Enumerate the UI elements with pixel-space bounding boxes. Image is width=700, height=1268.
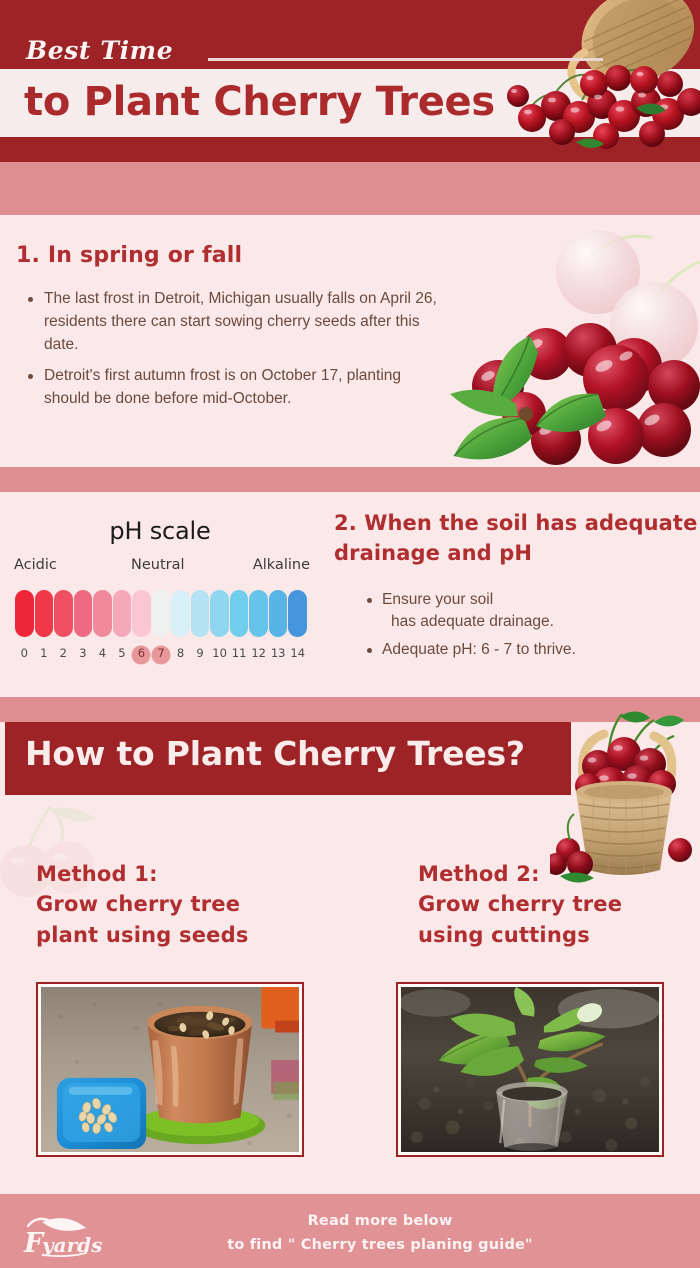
ph-pill-10 [210,590,229,637]
list-item: Detroit's first autumn frost is on Octob… [26,365,446,411]
method-2-photo [396,982,664,1157]
method-2-line2: using cuttings [418,923,590,947]
ph-label-acidic: Acidic [14,557,57,573]
cherries-with-leaves-icon [438,218,700,470]
svg-text:yards: yards [41,1233,102,1257]
pink-band-middle [0,467,700,492]
footer-line-2: to find " Cherry trees planing guide" [227,1237,533,1253]
section1-heading: 1. In spring or fall [16,243,242,268]
ph-pill-1 [35,590,54,637]
ph-number-3: 3 [74,644,93,666]
ph-number-4: 4 [93,644,112,666]
ph-pill-7 [152,590,171,637]
ph-pill-3 [74,590,93,637]
ph-number-6: 6 [132,644,151,666]
ph-number-10: 10 [210,644,229,666]
ph-label-neutral: Neutral [131,557,185,573]
footer: F yards Read more below to find " Cherry… [0,1194,700,1268]
method-1-heading: Method 1: Grow cherry tree plant using s… [36,859,249,950]
pink-band-top [0,162,700,215]
list-item: The last frost in Detroit, Michigan usua… [26,288,446,357]
method-1-title: Method 1: [36,862,158,886]
method-1-line2: plant using seeds [36,923,249,947]
ph-pill-11 [230,590,249,637]
ph-scale-number-row: 01234567891011121314 [15,644,307,666]
footer-line-1: Read more below [308,1213,453,1229]
ph-number-7: 7 [152,644,171,666]
ph-label-alkaline: Alkaline [253,557,310,573]
list-item: Ensure your soil has adequate drainage. [365,589,695,634]
pot-with-cherry-seeds-image [41,987,299,1152]
section2-heading: 2. When the soil has adequate drainage a… [334,509,700,569]
ph-pill-5 [113,590,132,637]
ph-scale-labels: Acidic Neutral Alkaline [14,557,310,577]
how-to-plant-banner: How to Plant Cherry Trees? [5,722,571,795]
ph-pill-14 [288,590,307,637]
list-item-line1: Ensure your soil [382,591,493,608]
ph-number-13: 13 [269,644,288,666]
ph-pill-6 [132,590,151,637]
header-divider-rule [208,58,603,61]
ph-number-5: 5 [113,644,132,666]
ph-pill-9 [191,590,210,637]
header: Best Time to Plant Cherry Trees [0,0,700,162]
banner-title: How to Plant Cherry Trees? [25,734,525,773]
method-2-heading: Method 2: Grow cherry tree using cutting… [418,859,622,950]
ph-number-12: 12 [249,644,268,666]
page-title: to Plant Cherry Trees [24,79,495,125]
ph-number-2: 2 [54,644,73,666]
ph-pill-8 [171,590,190,637]
footer-message: Read more below to find " Cherry trees p… [170,1210,590,1258]
ph-pill-0 [15,590,34,637]
method-2-line1: Grow cherry tree [418,892,622,916]
ph-number-8: 8 [171,644,190,666]
header-eyebrow: Best Time [26,36,173,65]
section1-bullet-list: The last frost in Detroit, Michigan usua… [26,288,446,419]
ph-pill-13 [269,590,288,637]
cutting-in-cup-image [401,987,659,1152]
fyards-logo-icon: F yards [18,1210,110,1258]
ph-scale-title: pH scale [0,517,320,545]
list-item: Adequate pH: 6 - 7 to thrive. [365,639,695,661]
section2-bullet-list: Ensure your soil has adequate drainage. … [365,589,695,666]
ph-pill-4 [93,590,112,637]
ph-pill-2 [54,590,73,637]
method-1-photo [36,982,304,1157]
ph-number-1: 1 [35,644,54,666]
infographic-page: Best Time to Plant Cherry Trees [0,0,700,1268]
ph-number-14: 14 [288,644,307,666]
method-1-line1: Grow cherry tree [36,892,240,916]
ph-pill-12 [249,590,268,637]
ph-number-11: 11 [230,644,249,666]
ph-number-9: 9 [191,644,210,666]
list-item-line2: has adequate drainage. [382,611,695,633]
cherries-basket-header-icon [486,0,700,162]
method-2-title: Method 2: [418,862,540,886]
ph-number-0: 0 [15,644,34,666]
ph-scale-color-bar [15,590,307,637]
